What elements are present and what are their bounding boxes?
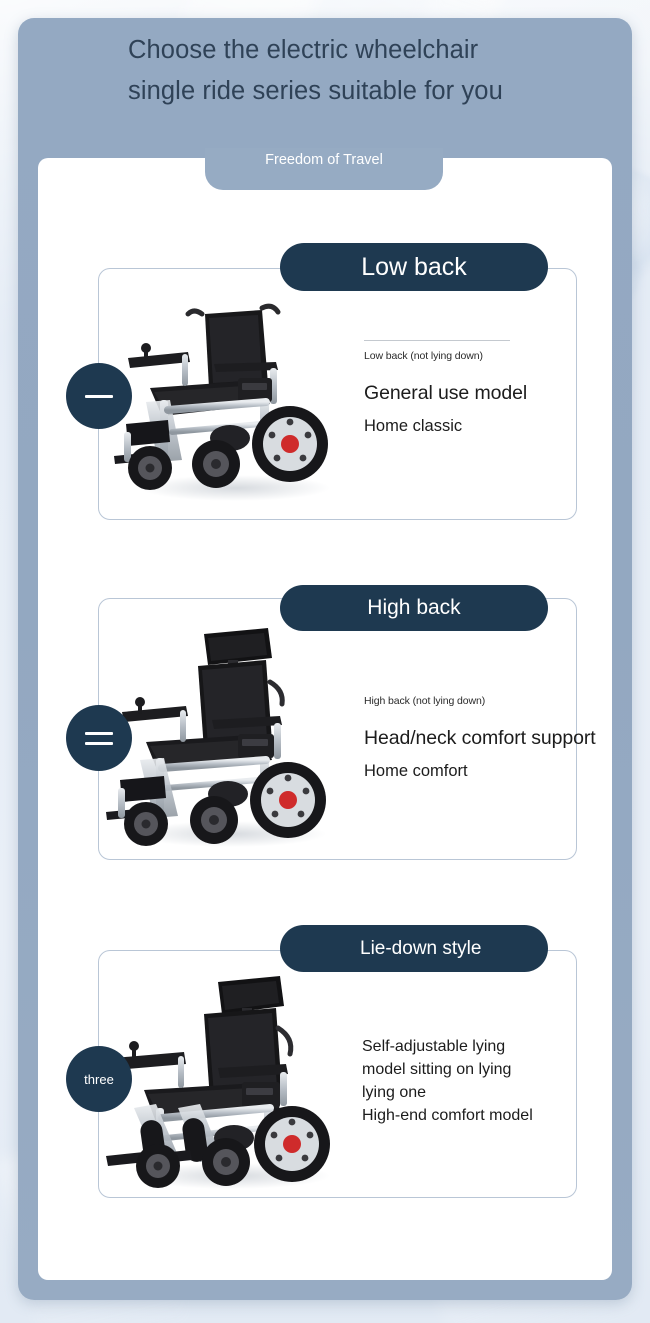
card-text-low-back: Low back (not lying down) General use mo… bbox=[364, 340, 564, 436]
wheelchair-high-back-image bbox=[100, 610, 350, 850]
pill-title-low-back[interactable]: Low back bbox=[280, 243, 548, 291]
card-description: Self-adjustable lying model sitting on l… bbox=[362, 1035, 562, 1104]
chinese-numeral-one-icon bbox=[85, 395, 113, 398]
text-divider bbox=[364, 340, 510, 341]
badge-step-two bbox=[66, 705, 132, 771]
card-sub-label: High back (not lying down) bbox=[364, 695, 579, 707]
badge-step-one bbox=[66, 363, 132, 429]
card-headline: General use model bbox=[364, 382, 564, 405]
card-description-second: High-end comfort model bbox=[362, 1104, 562, 1127]
wheelchair-lie-down-image bbox=[100, 962, 350, 1190]
card-subline: Home comfort bbox=[364, 762, 579, 781]
badge-step-three: three bbox=[66, 1046, 132, 1112]
card-headline: Head/neck comfort support bbox=[364, 727, 579, 750]
chinese-numeral-two-icon bbox=[85, 742, 113, 745]
pill-title-lie-down[interactable]: Lie-down style bbox=[280, 925, 548, 972]
wheelchair-low-back-image bbox=[110, 292, 350, 504]
card-text-lie-down: Self-adjustable lying model sitting on l… bbox=[362, 1035, 562, 1127]
tab-freedom-of-travel[interactable]: Freedom of Travel bbox=[205, 148, 443, 190]
page-title: Choose the electric wheelchair single ri… bbox=[128, 30, 548, 112]
card-text-high-back: High back (not lying down) Head/neck com… bbox=[364, 695, 579, 781]
chinese-numeral-two-icon bbox=[85, 732, 113, 735]
card-subline: Home classic bbox=[364, 417, 564, 436]
pill-title-high-back[interactable]: High back bbox=[280, 585, 548, 631]
card-sub-label: Low back (not lying down) bbox=[364, 350, 564, 362]
